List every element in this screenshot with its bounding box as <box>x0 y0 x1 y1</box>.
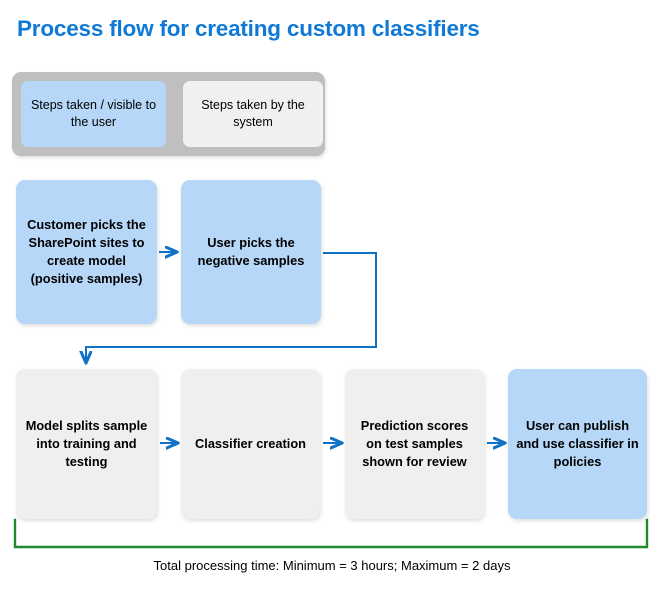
legend-item-user: Steps taken / visible to the user <box>21 81 166 147</box>
legend-item-system: Steps taken by the system <box>183 81 323 147</box>
flow-step-user-can-publish-classifier: User can publish and use classifier in p… <box>508 369 647 519</box>
flow-step-model-splits-sample: Model splits sample into training and te… <box>16 369 157 519</box>
legend-container: Steps taken / visible to the user Steps … <box>12 72 325 156</box>
total-time-bracket <box>15 520 647 547</box>
flow-step-prediction-scores: Prediction scores on test samples shown … <box>345 369 484 519</box>
process-flow-diagram: Process flow for creating custom classif… <box>0 0 664 596</box>
flow-step-customer-picks-sharepoint-sites: Customer picks the SharePoint sites to c… <box>16 180 157 324</box>
page-title: Process flow for creating custom classif… <box>17 16 480 42</box>
flow-step-classifier-creation: Classifier creation <box>181 369 320 519</box>
flow-step-user-picks-negative-samples: User picks the negative samples <box>181 180 321 324</box>
total-processing-time-caption: Total processing time: Minimum = 3 hours… <box>0 558 664 573</box>
